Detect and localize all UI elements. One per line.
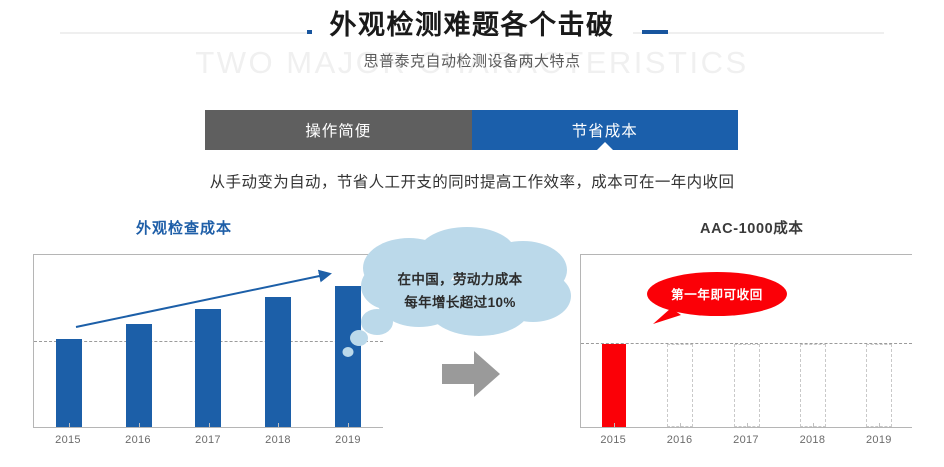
left-chart-plot-area: [34, 255, 383, 427]
left-chart-title: 外观检查成本: [136, 217, 232, 238]
axis-tick: [614, 423, 615, 427]
left-chart-bars: [34, 255, 383, 427]
axis-label-2018: 2018: [243, 434, 313, 446]
tab-easy-operation[interactable]: 操作简便: [205, 110, 472, 150]
page-title: 外观检测难题各个击破: [312, 8, 633, 42]
left-bar-chart: [33, 254, 383, 428]
axis-tick: [69, 423, 70, 427]
left-chart-axis-labels: 20152016201720182019: [33, 434, 383, 446]
axis-tick: [348, 423, 349, 427]
cloud-callout-text: 在中国，劳动力成本 每年增长超过10%: [365, 268, 555, 314]
axis-label-2019: 2019: [846, 434, 912, 446]
page-subtitle: 思普泰克自动检测设备两大特点: [0, 49, 944, 75]
axis-tick: [278, 423, 279, 427]
bar-slot: [174, 255, 244, 427]
right-chart-title: AAC-1000成本: [700, 217, 804, 238]
bar-slot: [34, 255, 104, 427]
axis-label-2018: 2018: [779, 434, 845, 446]
page-header: TWO MAJOR CHARACTERISTICS 外观检测难题各个击破 思普泰…: [0, 0, 944, 92]
bar-2018: [265, 297, 291, 427]
right-chart-axis-labels: 20152016201720182019: [580, 434, 912, 446]
axis-label-2016: 2016: [646, 434, 712, 446]
axis-tick: [680, 423, 681, 427]
axis-label-2017: 2017: [713, 434, 779, 446]
lead-description: 从手动变为自动，节省人工开支的同时提高工作效率，成本可在一年内收回: [0, 171, 944, 195]
axis-label-2015: 2015: [33, 434, 103, 446]
bar-ghost-2016: [667, 344, 693, 427]
red-callout-text: 第一年即可收回: [635, 284, 799, 303]
cloud-text-line-1: 在中国，劳动力成本: [365, 268, 555, 291]
bar-highlight-2015: [602, 344, 626, 427]
bar-slot: [104, 255, 174, 427]
axis-tick: [879, 423, 880, 427]
bar-slot: [846, 255, 912, 427]
bar-2015: [56, 339, 82, 427]
right-arrow-icon: [440, 348, 502, 400]
bar-slot: [243, 255, 313, 427]
cloud-text-line-2: 每年增长超过10%: [365, 291, 555, 314]
axis-tick: [747, 423, 748, 427]
axis-label-2015: 2015: [580, 434, 646, 446]
bar-ghost-2017: [734, 344, 760, 427]
bar-ghost-2018: [800, 344, 826, 427]
page-title-wrap: 外观检测难题各个击破: [0, 8, 944, 42]
bar-ghost-2019: [866, 344, 892, 427]
bar-2017: [195, 309, 221, 427]
bar-2016: [126, 324, 152, 427]
axis-label-2019: 2019: [313, 434, 383, 446]
tab-bar[interactable]: 操作简便 节省成本: [205, 110, 738, 150]
axis-tick: [139, 423, 140, 427]
axis-label-2017: 2017: [173, 434, 243, 446]
axis-label-2016: 2016: [103, 434, 173, 446]
tab-active-pointer-icon: [596, 142, 614, 151]
red-callout: 第一年即可收回: [635, 270, 815, 326]
axis-tick: [813, 423, 814, 427]
tab-cost-saving-label: 节省成本: [572, 119, 638, 141]
axis-tick: [209, 423, 210, 427]
tab-cost-saving[interactable]: 节省成本: [472, 110, 739, 150]
tab-easy-operation-label: 操作简便: [305, 119, 371, 141]
